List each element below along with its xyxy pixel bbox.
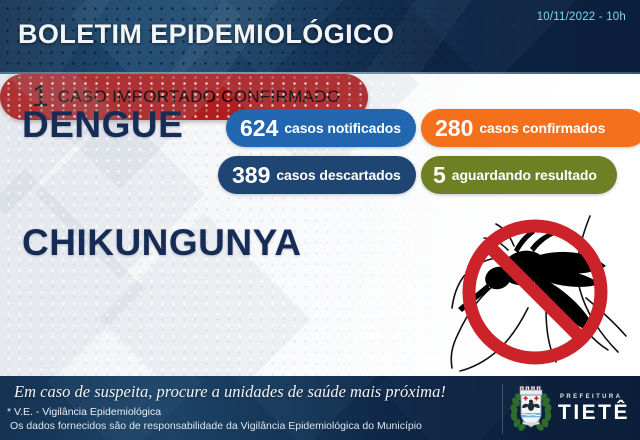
chikungunya-section-title: CHIKUNGUNYA (22, 222, 302, 264)
page-title: BOLETIM EPIDEMIOLÓGICO (18, 19, 394, 50)
stat-pill-casos-notificados: 624 casos notificados (226, 109, 416, 147)
bulletin-body: DENGUE 624 casos notificados 280 casos c… (0, 74, 640, 376)
no-mosquito-icon (440, 212, 640, 376)
stat-value-aguardando-resultado: 5 (433, 162, 446, 189)
footer-note-ve: * V.E. - Vigilância Epidemiológica (7, 406, 161, 418)
bulletin-date: 10/11/2022 - 10h (537, 11, 626, 23)
stat-value-casos-descartados: 389 (232, 162, 270, 189)
stat-label-casos-notificados: casos notificados (284, 120, 401, 136)
stat-label-aguardando-resultado: aguardando resultado (452, 167, 597, 183)
stat-pill-casos-descartados: 389 casos descartados (218, 156, 416, 194)
logo-prefix: PREFEITURA (560, 394, 630, 400)
city-hall-logo: PREFEITURA TIETÊ (502, 382, 634, 434)
stat-pill-casos-confirmados: 280 casos confirmados (421, 109, 640, 147)
stat-value-casos-notificados: 624 (240, 115, 278, 142)
stat-label-casos-descartados: casos descartados (276, 167, 400, 183)
stat-value-casos-confirmados: 280 (435, 115, 473, 142)
page-footer: Em caso de suspeita, procure a unidades … (0, 376, 640, 440)
coat-of-arms-icon (508, 384, 554, 432)
footer-headline: Em caso de suspeita, procure a unidades … (14, 382, 446, 402)
footer-note-responsibility: Os dados fornecidos são de responsabilid… (10, 420, 422, 432)
epidemiological-bulletin: BOLETIM EPIDEMIOLÓGICO 10/11/2022 - 10h … (0, 0, 640, 440)
logo-city-name: TIETÊ (558, 402, 630, 423)
stat-label-casos-confirmados: casos confirmados (479, 120, 605, 136)
page-header: BOLETIM EPIDEMIOLÓGICO 10/11/2022 - 10h (0, 0, 640, 74)
logo-wordmark: PREFEITURA TIETÊ (558, 394, 630, 423)
stat-pill-aguardando-resultado: 5 aguardando resultado (421, 156, 617, 194)
dengue-section-title: DENGUE (22, 104, 183, 146)
logo-divider (502, 384, 503, 434)
